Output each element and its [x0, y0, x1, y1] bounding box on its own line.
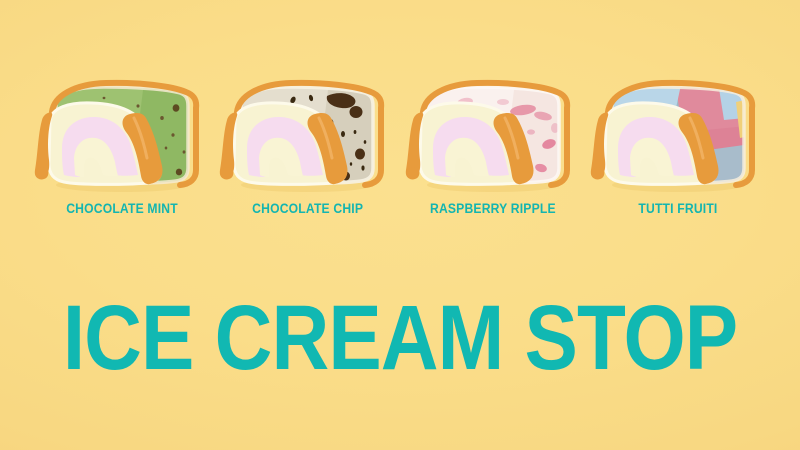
ice-cream-sandwich-raspberry-ripple-icon [405, 72, 581, 194]
flavour-label-tutti-fruiti: TUTTI FRUITI [638, 201, 717, 216]
flavour-card-tutti-fruiti[interactable]: TUTTI FRUITI [590, 72, 766, 232]
ice-cream-sandwich-chocolate-chip-icon [219, 72, 395, 194]
flavour-label-raspberry-ripple: RASPBERRY RIPPLE [430, 201, 556, 216]
flavour-card-chocolate-mint[interactable]: CHOCOLATE MINT [34, 72, 210, 232]
ice-cream-sandwich-chocolate-mint-icon [34, 72, 210, 194]
ice-cream-poster: CHOCOLATE MINT [0, 0, 800, 450]
flavour-card-raspberry-ripple[interactable]: RASPBERRY RIPPLE [405, 72, 581, 232]
flavour-card-chocolate-chip[interactable]: CHOCOLATE CHIP [219, 72, 395, 232]
flavour-label-chocolate-mint: CHOCOLATE MINT [66, 201, 178, 216]
flavour-row: CHOCOLATE MINT [0, 72, 800, 232]
page-title: ICE CREAM STOP [28, 292, 772, 384]
ice-cream-sandwich-tutti-fruiti-icon [590, 72, 766, 194]
flavour-label-chocolate-chip: CHOCOLATE CHIP [252, 201, 363, 216]
